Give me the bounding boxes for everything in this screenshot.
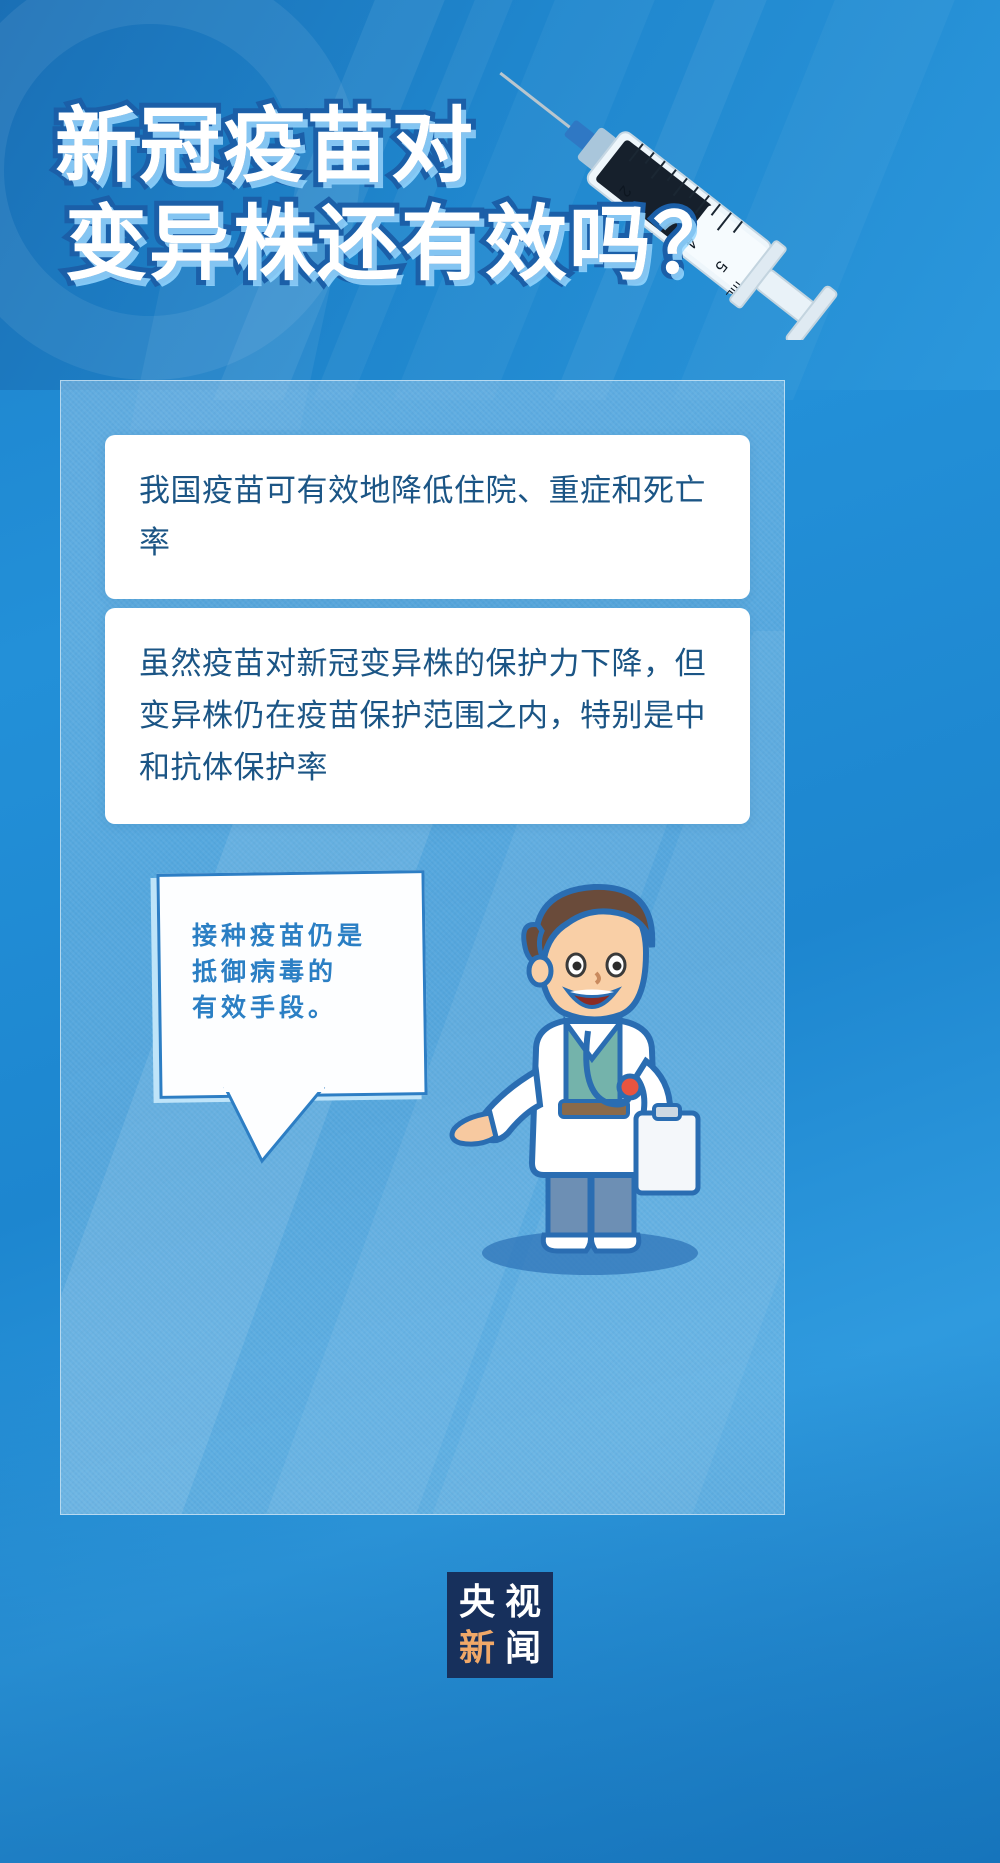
logo-char-xin: 新 (454, 1625, 500, 1671)
info-card-2-text: 虽然疫苗对新冠变异株的保护力下降，但变异株仍在疫苗保护范围之内，特别是中和抗体保… (139, 638, 716, 794)
speech-bubble-line-1: 接种疫苗仍是 (192, 918, 366, 954)
poster-canvas: 2 3 4 5 mL 新冠疫苗对 变异株还有效吗？ 我国疫苗可有效地降低住院、重… (0, 0, 1000, 1863)
poster-title: 新冠疫苗对 变异株还有效吗？ (55, 100, 755, 292)
speech-bubble-line-3: 有效手段。 (192, 990, 366, 1026)
speech-bubble-tail-icon (218, 1087, 348, 1167)
info-card-1: 我国疫苗可有效地降低住院、重症和死亡率 (105, 435, 750, 599)
doctor-illustration-icon (440, 855, 720, 1275)
info-card-1-text: 我国疫苗可有效地降低住院、重症和死亡率 (139, 465, 716, 569)
logo-char-wen: 闻 (500, 1625, 546, 1671)
title-line-2: 变异株还有效吗？ (65, 198, 755, 292)
logo-char-yang: 央 (454, 1579, 500, 1625)
cctv-news-logo: 央 视 新 闻 (447, 1572, 553, 1678)
speech-bubble-text: 接种疫苗仍是 抵御病毒的 有效手段。 (192, 918, 366, 1026)
title-line-1: 新冠疫苗对 (55, 100, 755, 194)
info-card-2: 虽然疫苗对新冠变异株的保护力下降，但变异株仍在疫苗保护范围之内，特别是中和抗体保… (105, 608, 750, 824)
logo-char-shi: 视 (500, 1579, 546, 1625)
speech-bubble: 接种疫苗仍是 抵御病毒的 有效手段。 (158, 872, 426, 1097)
speech-bubble-line-2: 抵御病毒的 (192, 954, 366, 990)
